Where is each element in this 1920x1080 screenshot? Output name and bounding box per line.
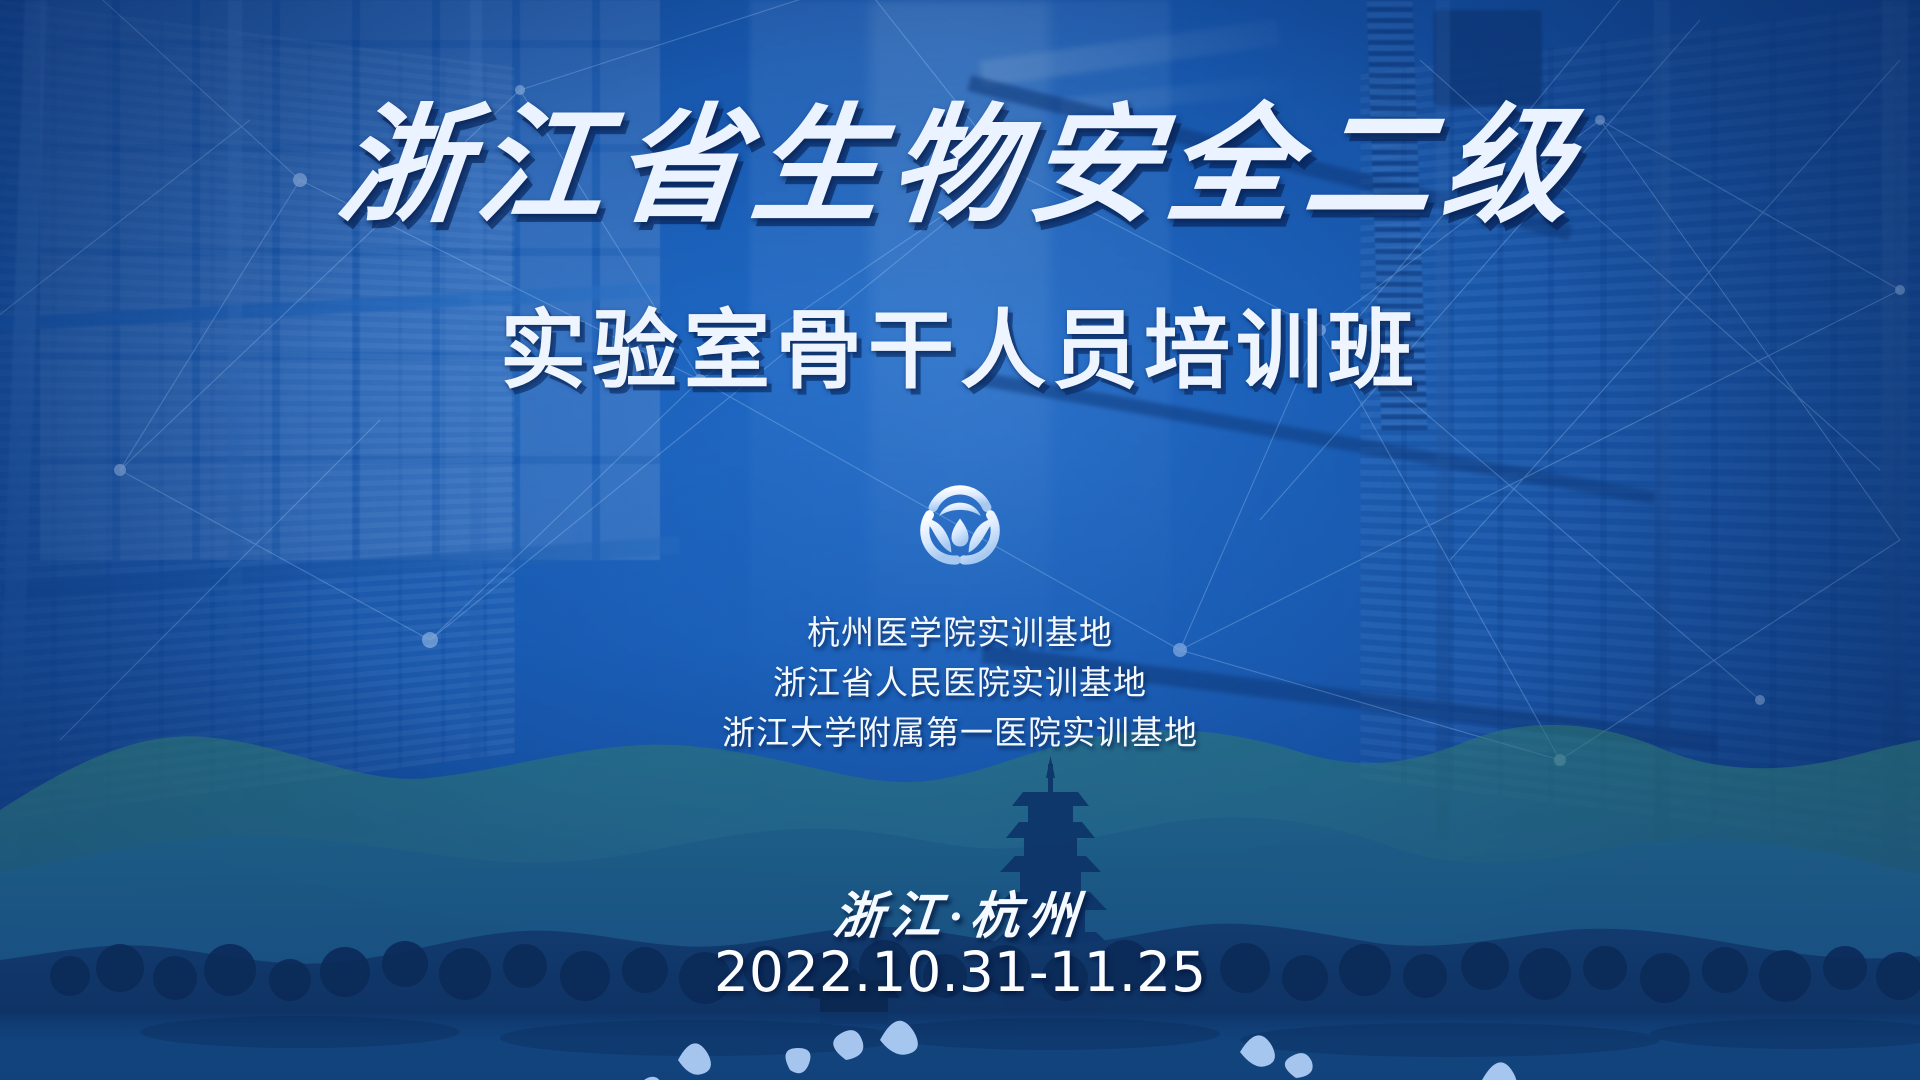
organization-item-1: 杭州医学院实训基地: [0, 608, 1920, 658]
event-location: 浙江·杭州: [0, 876, 1920, 948]
poster-content: 浙江省生物安全二级 实验室骨干人员培训班: [0, 0, 1920, 1080]
biohazard-icon: [899, 455, 1021, 577]
poster-canvas: 浙江省生物安全二级 实验室骨干人员培训班: [0, 0, 1920, 1080]
organization-list: 杭州医学院实训基地 浙江省人民医院实训基地 浙江大学附属第一医院实训基地: [0, 608, 1920, 758]
event-dates: 2022.10.31-11.25: [0, 940, 1920, 1004]
organization-item-3: 浙江大学附属第一医院实训基地: [0, 708, 1920, 758]
poster-title-line-1: 浙江省生物安全二级: [0, 96, 1920, 239]
poster-title-line-2: 实验室骨干人员培训班: [0, 280, 1920, 405]
organization-item-2: 浙江省人民医院实训基地: [0, 658, 1920, 708]
